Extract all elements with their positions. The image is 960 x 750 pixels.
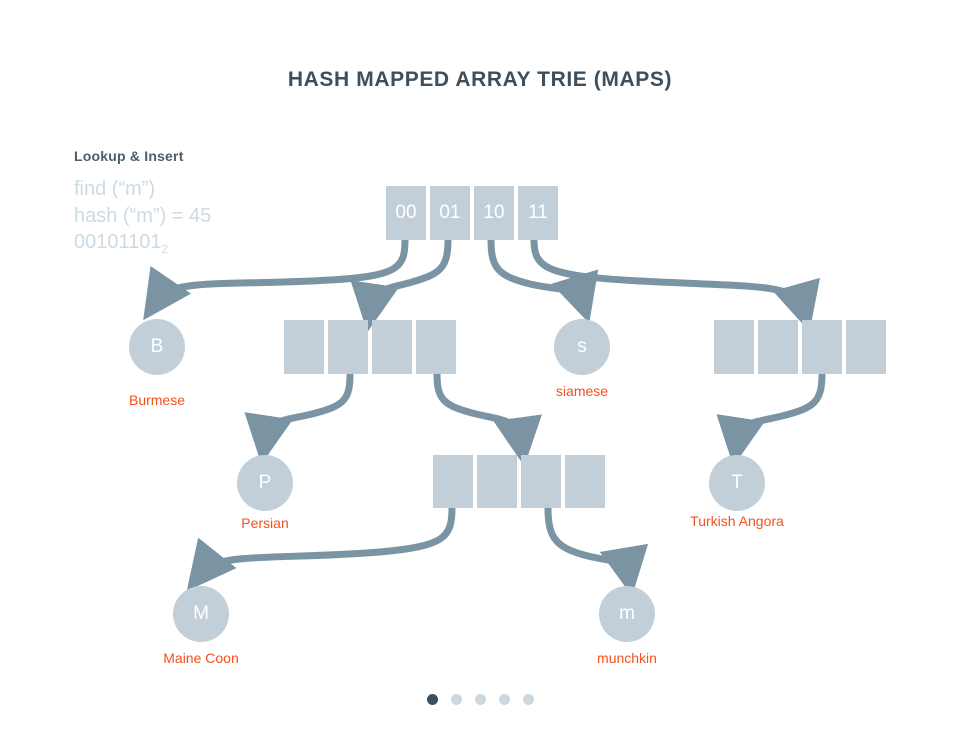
wire-level2right-to-T (737, 374, 822, 442)
leaf-label-siamese: siamese (482, 383, 682, 399)
leaf-node-munchkin[interactable]: m (599, 586, 655, 642)
level2-middle-array-cell-2[interactable] (328, 320, 368, 374)
level3-array-cell-1[interactable] (433, 455, 473, 508)
root-array-cell-10[interactable]: 10 (474, 186, 514, 240)
slide-canvas: HASH MAPPED ARRAY TRIE (MAPS) Lookup & I… (0, 0, 960, 750)
pagination-dot-5[interactable] (523, 694, 534, 705)
lookup-insert-legend: Lookup & Insert find (“m”) hash (“m”) = … (74, 148, 334, 258)
leaf-node-persian[interactable]: P (237, 455, 293, 511)
level2-right-array-cell-1[interactable] (714, 320, 754, 374)
legend-line-find: find (“m”) (74, 176, 334, 203)
level2-middle-array-cell-4[interactable] (416, 320, 456, 374)
wire-root01-to-level2middle (371, 240, 448, 308)
root-array-cell-01[interactable]: 01 (430, 186, 470, 240)
leaf-node-maine-coon[interactable]: M (173, 586, 229, 642)
legend-line-binary: 001011012 (74, 229, 334, 258)
wire-root10-to-siamese (491, 240, 582, 300)
legend-line-hash: hash (“m”) = 45 (74, 203, 334, 230)
page-title: HASH MAPPED ARRAY TRIE (MAPS) (0, 68, 960, 92)
level3-array[interactable] (433, 455, 605, 508)
leaf-label-turkish-angora: Turkish Angora (637, 513, 837, 529)
connector-layer (0, 0, 960, 750)
leaf-node-burmese[interactable]: B (129, 319, 185, 375)
legend-binary-subscript: 2 (162, 242, 169, 256)
root-array-cell-11[interactable]: 11 (518, 186, 558, 240)
root-array[interactable]: 00 01 10 11 (386, 186, 558, 240)
level3-array-cell-4[interactable] (565, 455, 605, 508)
wire-root11-to-level2right (534, 240, 803, 308)
level2-right-array-cell-3[interactable] (802, 320, 842, 374)
level2-right-array[interactable] (714, 320, 886, 374)
leaf-label-burmese: Burmese (57, 392, 257, 408)
level2-middle-array[interactable] (284, 320, 456, 374)
leaf-label-munchkin: munchkin (527, 650, 727, 666)
leaf-node-siamese[interactable]: s (554, 319, 610, 375)
legend-line-binary-text: 00101101 (74, 231, 162, 253)
leaf-node-turkish-angora[interactable]: T (709, 455, 765, 511)
pagination-dot-3[interactable] (475, 694, 486, 705)
legend-heading: Lookup & Insert (74, 148, 334, 164)
level2-middle-array-cell-1[interactable] (284, 320, 324, 374)
wire-level3-to-m (548, 508, 628, 572)
level3-array-cell-2[interactable] (477, 455, 517, 508)
pagination-dot-1[interactable] (427, 694, 438, 705)
level2-right-array-cell-4[interactable] (846, 320, 886, 374)
level2-middle-array-cell-3[interactable] (372, 320, 412, 374)
legend-line-hash-text: hash (“m”) = 45 (74, 205, 211, 227)
pagination-dot-2[interactable] (451, 694, 462, 705)
pagination-dot-4[interactable] (499, 694, 510, 705)
legend-line-find-text: find (“m”) (74, 178, 155, 200)
level2-right-array-cell-2[interactable] (758, 320, 798, 374)
wire-level2middle-to-P (265, 374, 350, 440)
root-array-cell-00[interactable]: 00 (386, 186, 426, 240)
leaf-label-maine-coon: Maine Coon (101, 650, 301, 666)
pagination-dots[interactable] (0, 694, 960, 705)
leaf-label-persian: Persian (165, 515, 365, 531)
level3-array-cell-3[interactable] (521, 455, 561, 508)
